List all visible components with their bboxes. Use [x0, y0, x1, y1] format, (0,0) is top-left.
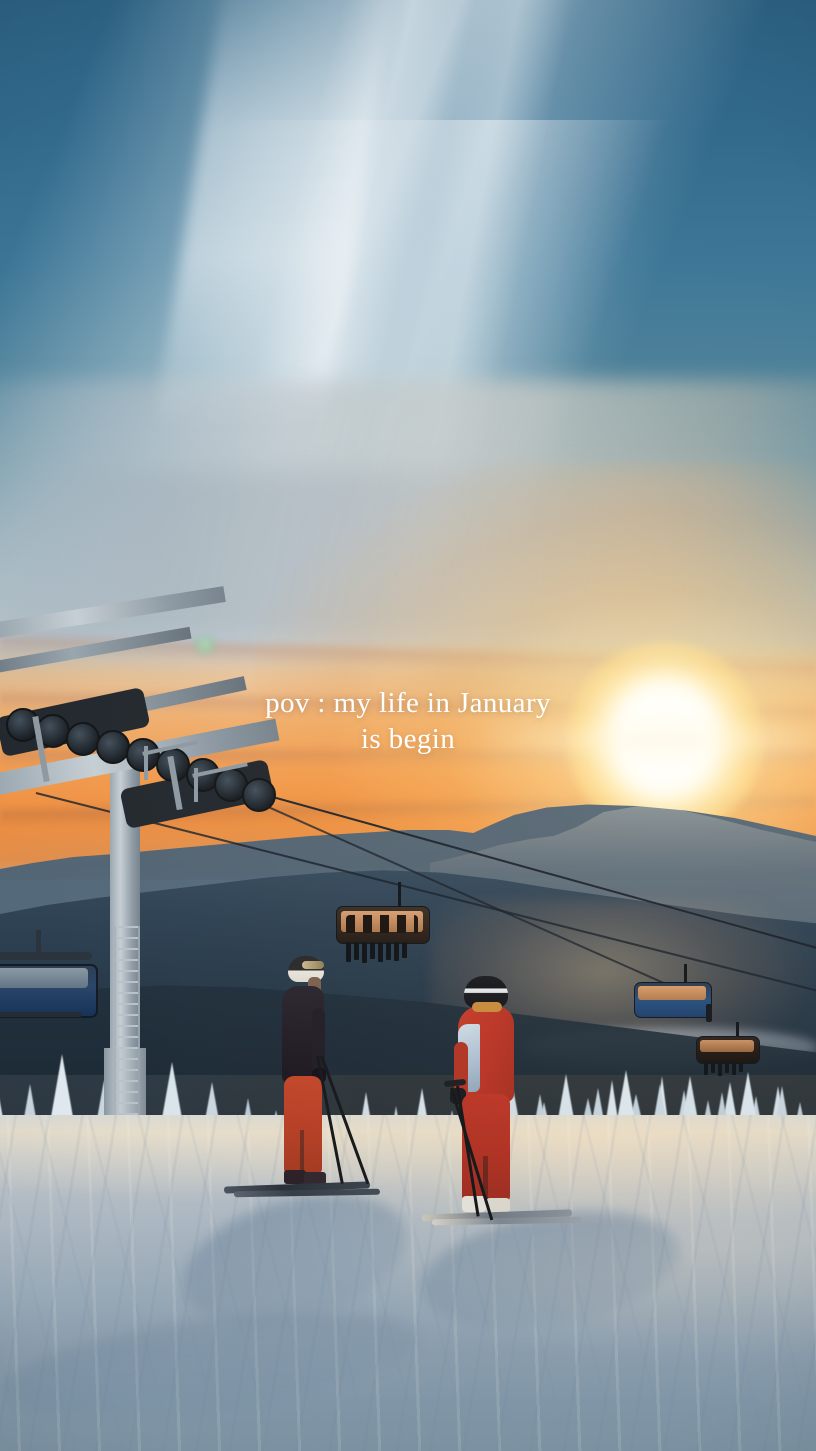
photo-canvas: pov : my life in January is begin [0, 0, 816, 1451]
vignette-overlay [0, 0, 816, 1451]
